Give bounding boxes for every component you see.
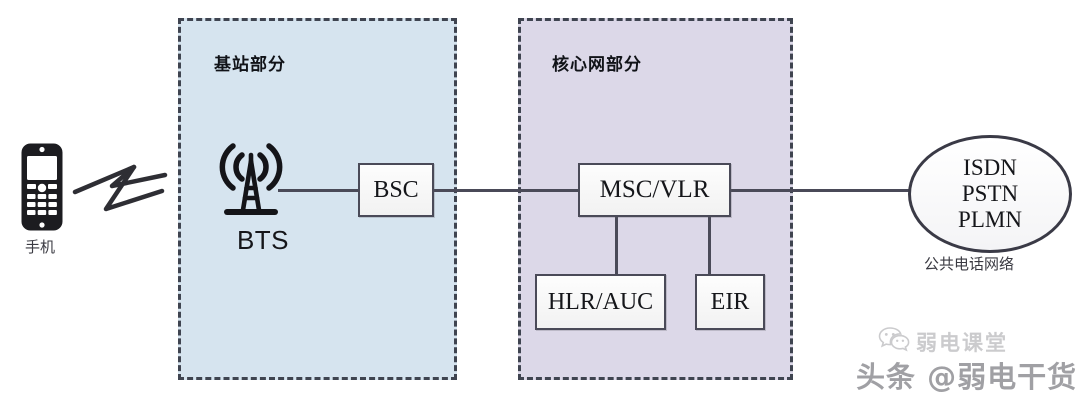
pstn-line-plmn: PLMN [958,207,1022,233]
wechat-logo-icon [878,326,910,357]
phone-caption: 手机 [25,236,55,257]
node-public-telephone-network[interactable]: ISDN PSTN PLMN [908,135,1072,253]
zone-core-network-label: 核心网部分 [552,50,642,75]
bts-label: BTS [213,225,313,256]
pstn-line-isdn: ISDN [963,155,1017,181]
mobile-phone-icon [20,142,64,237]
node-msc-vlr[interactable]: MSC/VLR [578,163,731,217]
watermark-main-text: 头条 @弱电干货 [856,354,1077,396]
zone-base-station-label: 基站部分 [214,50,286,75]
pstn-caption: 公共电话网络 [924,253,1014,274]
diagram-canvas: 基站部分 核心网部分 [0,0,1080,401]
pstn-line-pstn: PSTN [962,181,1018,207]
watermark: 弱电课堂 头条 @弱电干货 [856,326,1080,400]
link-msc-to-eir [708,216,711,275]
node-hlr-auc[interactable]: HLR/AUC [535,274,666,330]
watermark-top-text: 弱电课堂 [916,327,1008,357]
link-msc-to-pstn [730,189,910,192]
link-msc-to-hlr [615,216,618,275]
link-bsc-to-msc [433,189,579,192]
node-bsc[interactable]: BSC [358,163,434,217]
rf-signal-icon [72,155,168,222]
watermark-top-row: 弱电课堂 [878,326,1008,357]
node-eir[interactable]: EIR [695,274,765,330]
cell-tower-icon [205,136,297,229]
